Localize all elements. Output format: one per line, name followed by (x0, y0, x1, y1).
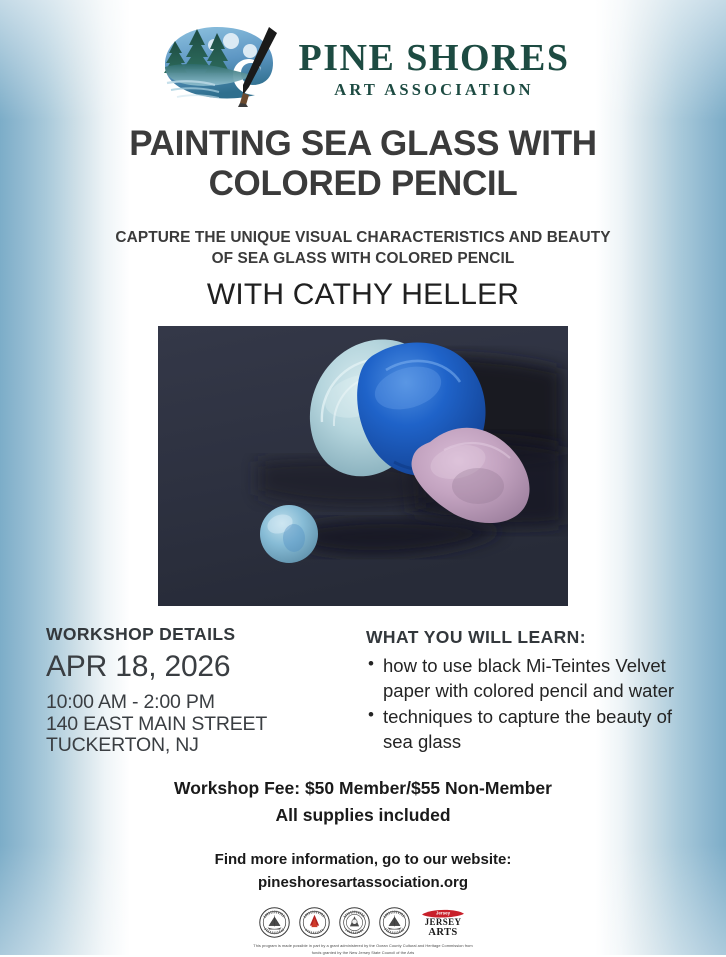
list-item: techniques to capture the beauty of sea … (366, 705, 700, 754)
subtitle: CAPTURE THE UNIQUE VISUAL CHARACTERISTIC… (0, 227, 726, 271)
learning-outcomes-column: WHAT YOU WILL LEARN: how to use black Mi… (366, 624, 700, 757)
pine-shores-palette-logo-icon (157, 23, 285, 107)
learn-list: how to use black Mi-Teintes Velvet paper… (366, 654, 700, 754)
headline-line-2: COLORED PENCIL (209, 164, 518, 203)
workshop-date: APR 18, 2026 (46, 651, 346, 683)
workshop-address-line-1: 140 EAST MAIN STREET (46, 714, 346, 736)
presenter-name: WITH CATHY HELLER (0, 278, 726, 312)
learn-heading: WHAT YOU WILL LEARN: (366, 627, 700, 648)
fee-block: Workshop Fee: $50 Member/$55 Non-Member … (0, 775, 726, 828)
workshop-time: 10:00 AM - 2:00 PM (46, 692, 346, 714)
website-block: Find more information, go to our website… (0, 848, 726, 895)
poster-content: PINE SHORES ART ASSOCIATION PAINTING SEA… (0, 0, 726, 957)
masthead: PINE SHORES ART ASSOCIATION (0, 0, 726, 108)
brand-name: PINE SHORES (299, 39, 570, 77)
subtitle-line-2: OF SEA GLASS WITH COLORED PENCIL (212, 250, 515, 267)
svg-text:ARTS: ARTS (428, 927, 457, 937)
brand-subtitle: ART ASSOCIATION (334, 82, 533, 99)
website-prompt: Find more information, go to our website… (0, 848, 726, 871)
list-item: how to use black Mi-Teintes Velvet paper… (366, 654, 700, 703)
website-url[interactable]: pineshoresartassociation.org (0, 871, 726, 894)
headline-line-1: PAINTING SEA GLASS WITH (129, 124, 597, 163)
artwork-container (158, 326, 568, 606)
page-title: PAINTING SEA GLASS WITH COLORED PENCIL (0, 124, 726, 203)
details-section: WORKSHOP DETAILS APR 18, 2026 10:00 AM -… (0, 624, 726, 757)
ocean-county-new-jersey-seal-icon (259, 907, 290, 938)
arts-council-seal-icon (299, 907, 330, 938)
supplies-line: All supplies included (0, 802, 726, 828)
subtitle-line-1: CAPTURE THE UNIQUE VISUAL CHARACTERISTIC… (115, 229, 610, 246)
heritage-commission-seal-icon (339, 907, 370, 938)
workshop-location-block: 10:00 AM - 2:00 PM 140 EAST MAIN STREET … (46, 692, 346, 757)
sponsor-logo-row: Jersey JERSEY ARTS (0, 906, 726, 938)
sea-glass-artwork-image (158, 326, 568, 606)
workshop-details-column: WORKSHOP DETAILS APR 18, 2026 10:00 AM -… (46, 624, 346, 757)
workshop-details-heading: WORKSHOP DETAILS (46, 624, 346, 645)
jersey-arts-logo-icon: Jersey JERSEY ARTS (419, 907, 467, 937)
svg-text:JERSEY: JERSEY (425, 917, 462, 927)
brand-wordmark: PINE SHORES ART ASSOCIATION (299, 31, 570, 99)
fee-line: Workshop Fee: $50 Member/$55 Non-Member (0, 775, 726, 801)
workshop-address-line-2: TUCKERTON, NJ (46, 735, 346, 757)
svg-text:Jersey: Jersey (436, 911, 451, 916)
ocean-county-cultural-seal-icon (379, 907, 410, 938)
